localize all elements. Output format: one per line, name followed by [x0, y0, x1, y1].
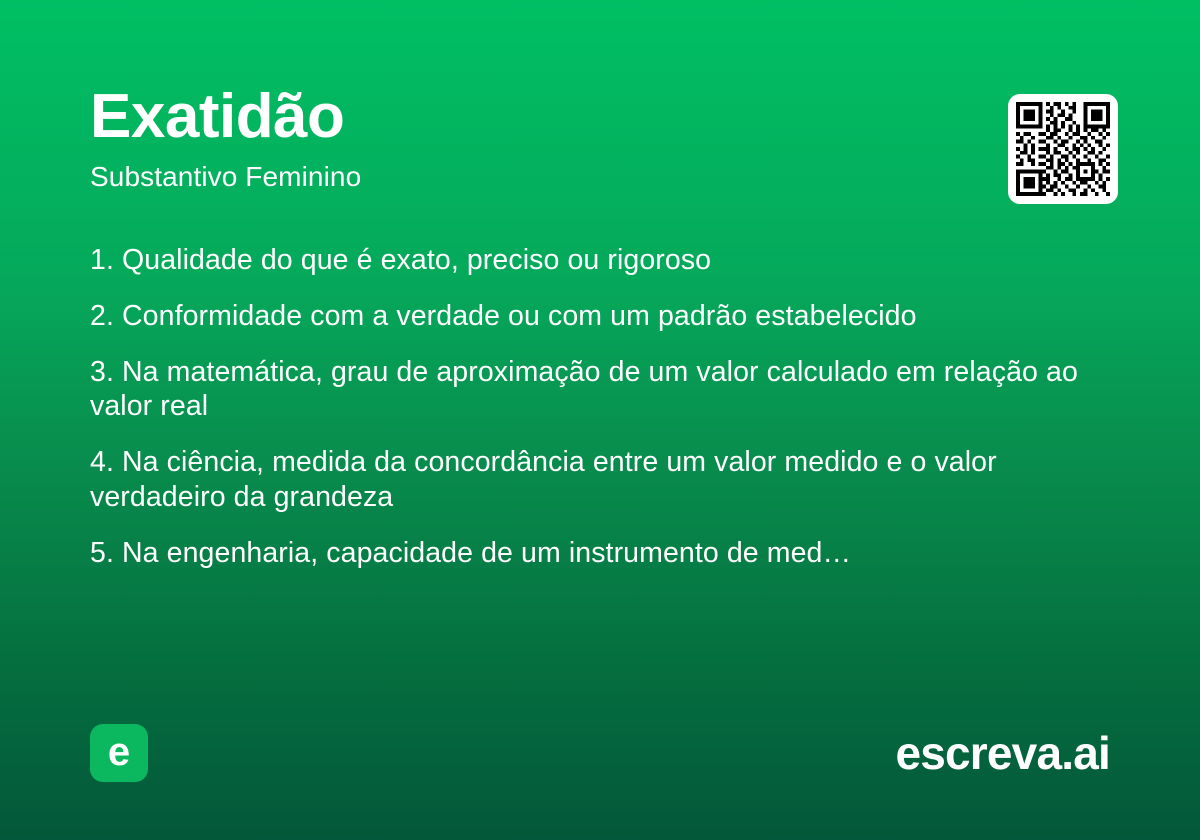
word-class-subtitle: Substantivo Feminino: [90, 162, 1110, 193]
escreva-logo-icon: e: [90, 724, 148, 782]
definition-list: 1. Qualidade do que é exato, preciso ou …: [90, 243, 1112, 570]
logo-letter: e: [108, 732, 130, 772]
list-item: 3. Na matemática, grau de aproximação de…: [90, 355, 1112, 425]
card-header: Exatidão Substantivo Feminino: [90, 86, 1110, 193]
list-item: 5. Na engenharia, capacidade de um instr…: [90, 536, 1112, 571]
list-item: 4. Na ciência, medida da concordância en…: [90, 445, 1112, 515]
page-title: Exatidão: [90, 86, 1110, 148]
list-item: 2. Conformidade com a verdade ou com um …: [90, 299, 1112, 334]
qr-code-icon[interactable]: [1008, 94, 1118, 204]
brand-wordmark: escreva.ai: [895, 730, 1110, 776]
definition-card: Exatidão Substantivo Feminino: [0, 0, 1200, 840]
list-item: 1. Qualidade do que é exato, preciso ou …: [90, 243, 1112, 278]
card-footer: e escreva.ai: [90, 724, 1110, 782]
